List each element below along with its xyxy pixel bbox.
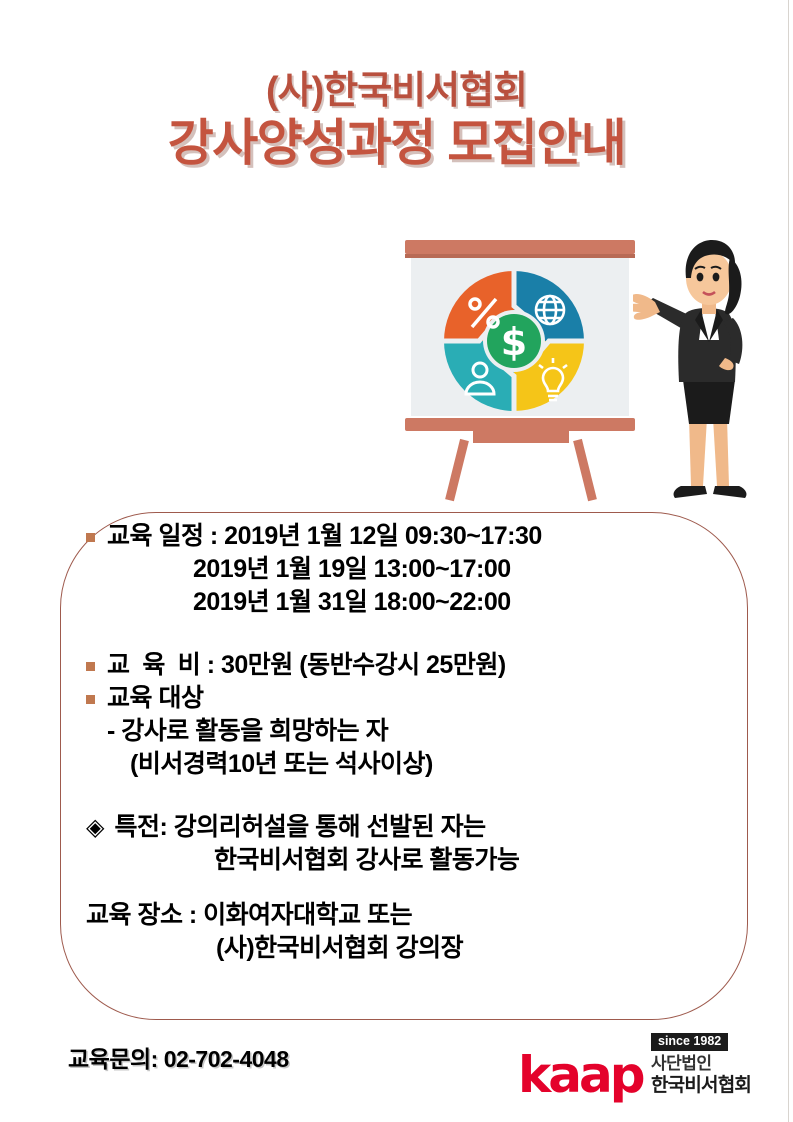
schedule-label: 교육 일정 : 2019년 1월 12일 09:30~17:30 (107, 520, 542, 553)
title-line-1: (사)한국비서협회 (0, 70, 793, 113)
logo-wordmark: kaap (518, 1050, 643, 1100)
since-badge: since 1982 (651, 1033, 728, 1051)
benefit-label: 특전: 강의리허설을 통해 선발된 자는 (114, 811, 485, 844)
target-item: 교육 대상 (86, 682, 746, 715)
presentation-board: $ (405, 240, 635, 450)
benefit-item: ◈ 특전: 강의리허설을 통해 선발된 자는 (86, 811, 746, 844)
easel-leg-left (445, 439, 469, 501)
square-bullet-icon (86, 695, 95, 704)
svg-text:$: $ (501, 320, 527, 364)
content-body: 교육 일정 : 2019년 1월 12일 09:30~17:30 2019년 1… (86, 520, 746, 965)
target-line-2: (비서경력10년 또는 석사이상) (86, 748, 746, 781)
target-line-1: - 강사로 활동을 희망하는 자 (86, 715, 746, 748)
square-bullet-icon (86, 533, 95, 542)
contact-info: 교육문의: 02-702-4048 (68, 1040, 289, 1074)
schedule-line-3: 2019년 1월 31일 18:00~22:00 (86, 586, 746, 619)
spacer (86, 781, 746, 811)
illustration: $ (405, 222, 785, 522)
diamond-bullet-icon: ◈ (86, 816, 104, 840)
logo-text-block: since 1982 사단법인 한국비서협회 (651, 1032, 771, 1097)
pie-diagram: $ (439, 266, 589, 416)
board-lip (473, 430, 569, 443)
easel-leg-right (573, 439, 597, 501)
square-bullet-icon (86, 662, 95, 671)
benefit-line-2: 한국비서협회 강사로 활동가능 (86, 844, 746, 877)
logo-org-name: 한국비서협회 (651, 1075, 771, 1098)
businesswoman-illustration (633, 222, 783, 522)
spacer (86, 877, 746, 899)
venue-line-2: (사)한국비서협회 강의장 (86, 932, 746, 965)
title-line-2: 강사양성과정 모집안내 (0, 115, 793, 171)
target-label: 교육 대상 (107, 682, 203, 715)
kaap-logo: kaap since 1982 사단법인 한국비서협회 (518, 1032, 768, 1104)
logo-corp-type: 사단법인 (651, 1054, 771, 1074)
schedule-item: 교육 일정 : 2019년 1월 12일 09:30~17:30 (86, 520, 746, 553)
fee-item: 교 육 비 : 30만원 (동반수강시 25만원) (86, 649, 746, 682)
schedule-line-2: 2019년 1월 19일 13:00~17:00 (86, 553, 746, 586)
poster-title: (사)한국비서협회 강사양성과정 모집안내 (0, 70, 793, 171)
venue-label: 교육 장소 : 이화여자대학교 또는 (86, 899, 746, 932)
poster-page: (사)한국비서협회 강사양성과정 모집안내 (0, 0, 793, 1122)
fee-label: 교 육 비 : 30만원 (동반수강시 25만원) (107, 649, 506, 682)
spacer (86, 619, 746, 649)
board-top-bar (405, 240, 635, 254)
